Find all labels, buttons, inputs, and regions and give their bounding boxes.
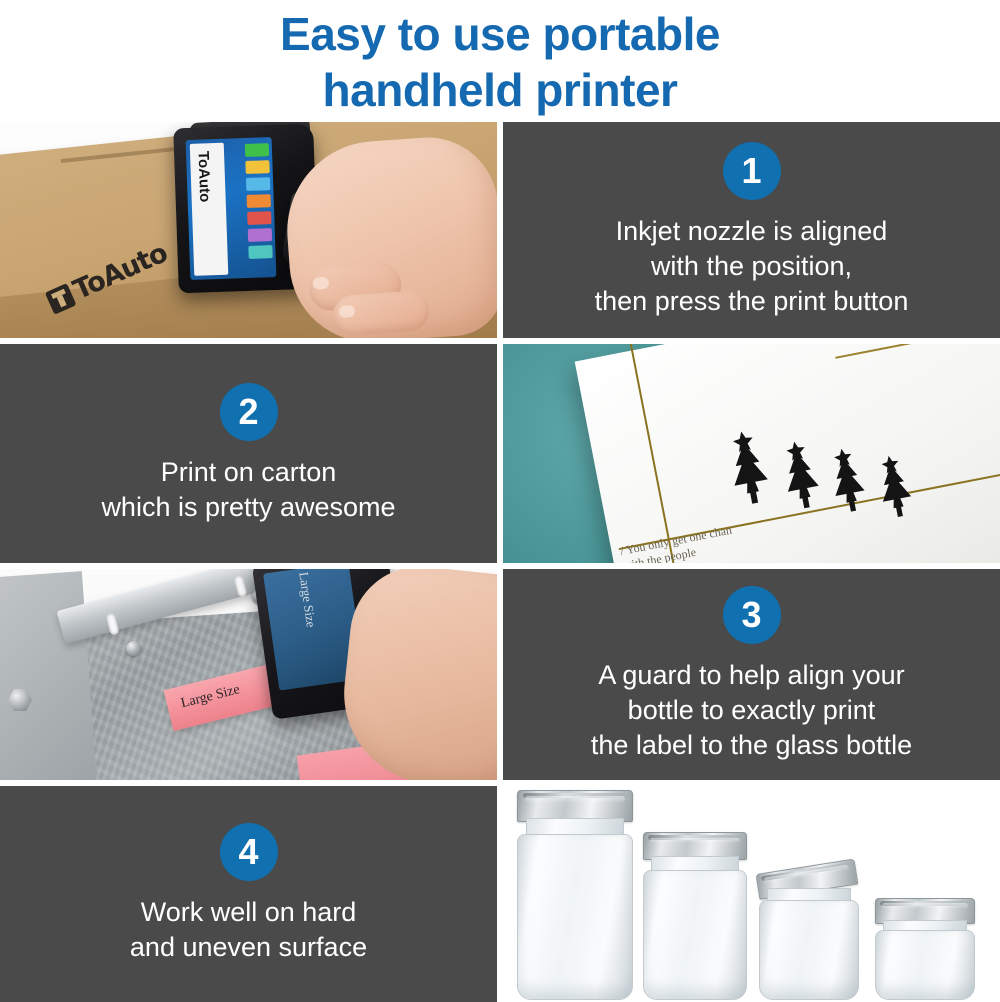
step-1-line-3: then press the print button [595,284,909,319]
menu-icon-5[interactable] [247,211,271,225]
step-2-number-badge: 2 [220,383,278,441]
step-3-line-3: the label to the glass bottle [591,728,912,763]
lid-ring [880,901,970,906]
step-4-number-badge: 4 [220,823,278,881]
jar-body [517,834,633,1000]
step-3-line-2: bottle to exactly print [591,693,912,728]
step-1-line-2: with the position, [595,249,909,284]
lid-ring [648,835,742,840]
jar-smallest [875,898,975,998]
photo-guard-with-pink-label: Large Size Large Size [0,569,497,780]
infographic-page: Easy to use portable handheld printer To… [0,0,1000,1000]
step-4-line-1: Work well on hard [130,895,367,930]
jar-small [759,866,859,998]
menu-icon-6[interactable] [248,228,272,242]
rail-bolt [126,641,141,656]
step-1-panel: 1 Inkjet nozzle is aligned with the posi… [503,122,1000,338]
jar-group [503,786,1000,1002]
photo-mason-jars [503,786,1000,1002]
photo-printer-on-carton: ToAuto ToAuto [0,122,497,338]
lid-ring [761,862,851,881]
jar-body [643,870,747,1000]
step-3-number-badge: 3 [723,586,781,644]
menu-icon-3[interactable] [246,177,270,191]
step-2-line-2: which is pretty awesome [101,490,395,525]
printed-label-text: Large Size [179,682,241,712]
screen-preview-text: Large Size [295,571,319,633]
step-2-line-1: Print on carton [101,455,395,490]
menu-icon-2[interactable] [245,160,269,174]
jar-body [875,930,975,1000]
printer-touchscreen[interactable]: ToAuto [186,137,277,280]
jar-large [517,790,633,998]
step-4-panel: 4 Work well on hard and uneven surface [0,786,497,1002]
title-line-1: Easy to use portable [280,8,720,60]
step-1-number-badge: 1 [723,142,781,200]
metal-guard-side-plate [0,571,98,780]
step-1-line-1: Inkjet nozzle is aligned [595,214,909,249]
step-3-panel: 3 A guard to help align your bottle to e… [503,569,1000,780]
menu-icon-1[interactable] [245,143,269,157]
step-2-text: Print on carton which is pretty awesome [101,455,395,525]
screen-logo-text: ToAuto [194,151,212,182]
step-1-text: Inkjet nozzle is aligned with the positi… [595,214,909,319]
photo-printed-trees-on-card: / You only get one chan with the people … [503,344,1000,563]
step-4-text: Work well on hard and uneven surface [130,895,367,965]
steps-grid: ToAuto ToAuto [0,122,1000,1000]
menu-icon-7[interactable] [248,245,272,259]
jar-medium [643,832,747,998]
step-3-text: A guard to help align your bottle to exa… [591,658,912,763]
lid-ring [523,793,628,798]
title-line-2: handheld printer [0,62,1000,118]
screen-menu-column[interactable] [245,143,273,259]
step-4-line-2: and uneven surface [130,930,367,965]
step-2-panel: 2 Print on carton which is pretty awesom… [0,344,497,563]
step-3-line-1: A guard to help align your [591,658,912,693]
jar-body [759,900,859,1000]
page-title: Easy to use portable handheld printer [0,6,1000,118]
menu-icon-4[interactable] [247,194,271,208]
